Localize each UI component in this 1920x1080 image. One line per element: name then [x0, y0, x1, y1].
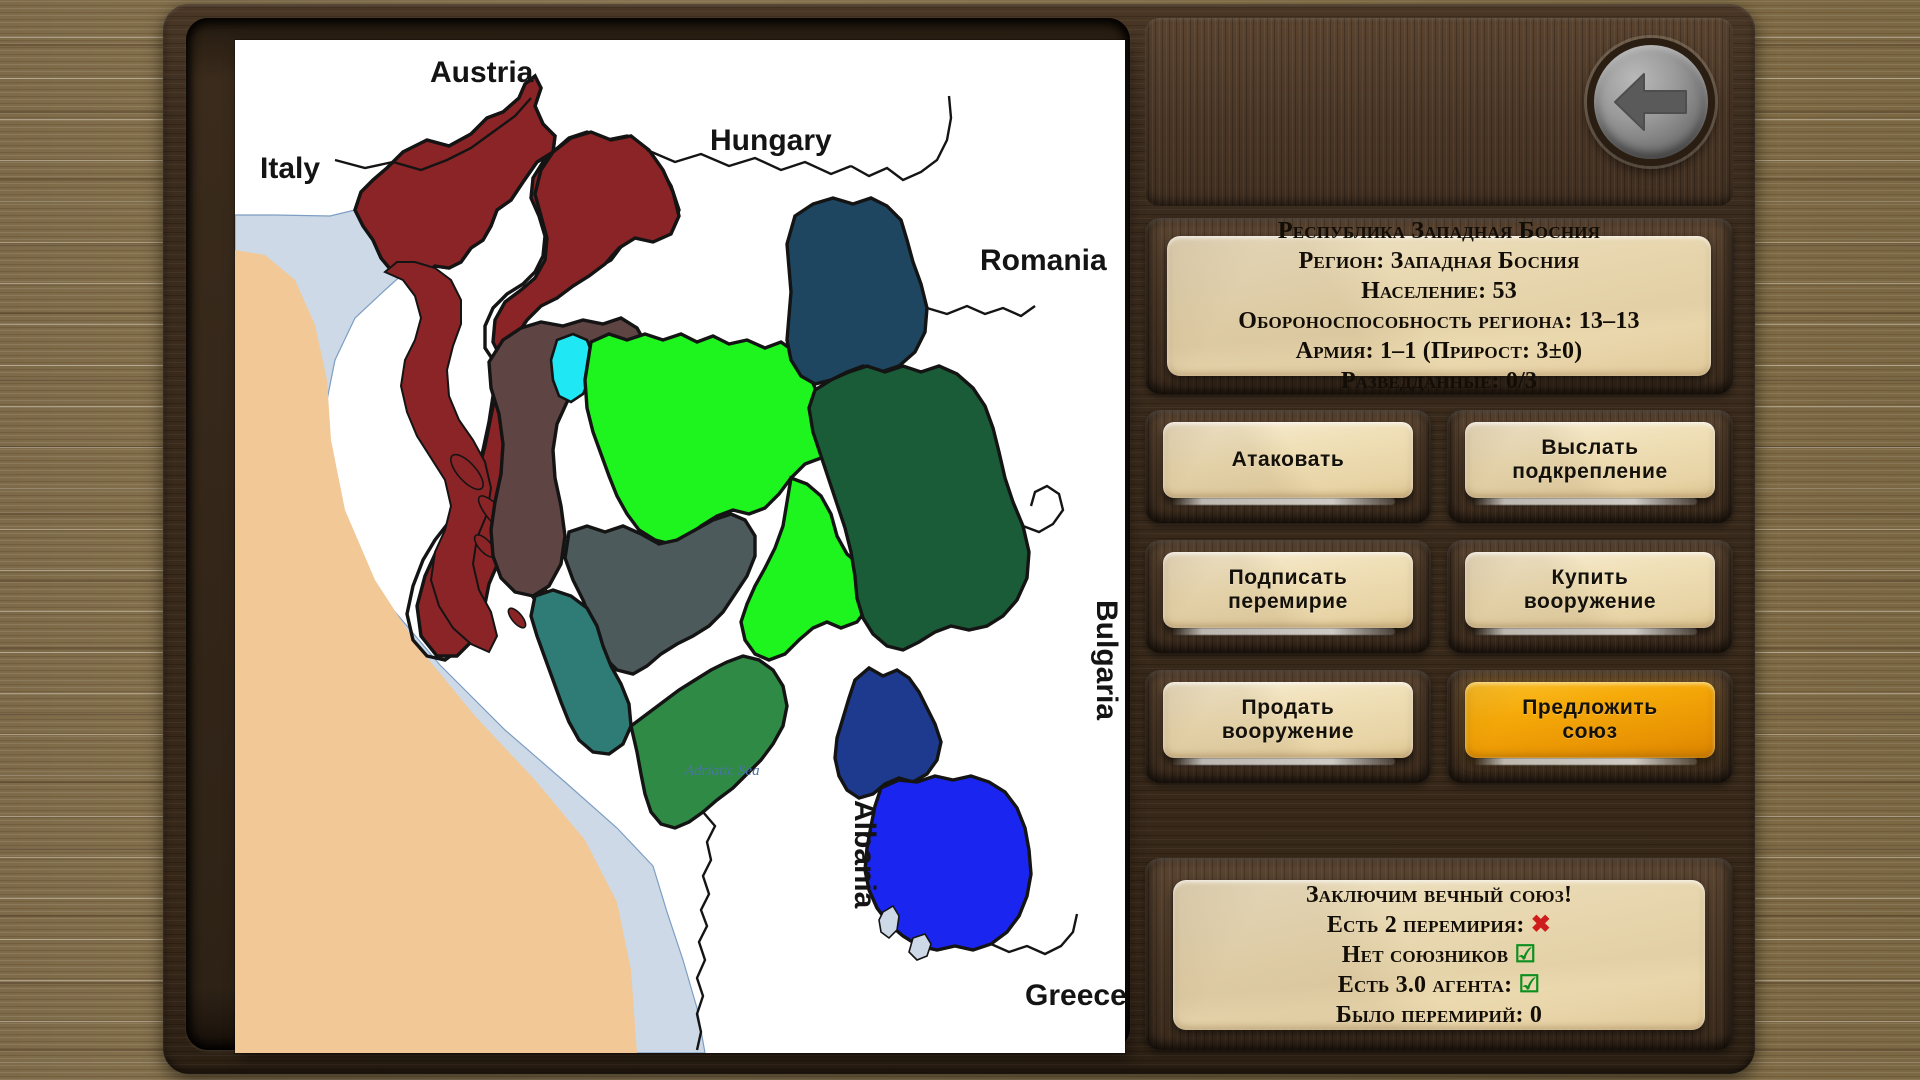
bay-reinforce: Выслатьподкрепление [1447, 410, 1733, 523]
attack-button[interactable]: Атаковать [1163, 422, 1413, 498]
buy-weapons-button[interactable]: Купитьвооружение [1465, 552, 1715, 628]
info-bay: Республика Западная Босния Регион: Запад… [1145, 218, 1733, 394]
status-row-truces: Есть 2 перемирия: ✖ [1327, 910, 1551, 940]
status-row-truces-label: Есть 2 перемирия: [1327, 912, 1525, 938]
label-romania: Romania [980, 244, 1107, 277]
status-row-past-truces: Было перемирий: 0 [1336, 1000, 1542, 1030]
attack-button-label: Атаковать [1232, 448, 1345, 472]
offer-alliance-button[interactable]: Предложитьсоюз [1465, 682, 1715, 758]
arrow-left-icon [1612, 71, 1690, 133]
label-albania: Albania [848, 800, 881, 909]
label-austria: Austria [430, 56, 534, 89]
buy-weapons-button-label: Купитьвооружение [1524, 566, 1656, 614]
status-row-allies: Нет союзников ☑ [1342, 940, 1536, 970]
back-button[interactable] [1587, 38, 1715, 166]
status-row-allies-label: Нет союзников [1342, 942, 1508, 968]
check-icon: ☑ [1514, 942, 1536, 968]
label-adriatic-sea: Adriatic Sea [684, 763, 760, 779]
map-card[interactable]: Austria Italy Hungary Romania Bulgaria A… [235, 40, 1125, 1053]
info-line-army: Армия: 1–1 (Прирост: 3±0) [1296, 336, 1583, 366]
cross-icon: ✖ [1531, 912, 1551, 938]
balkans-map[interactable]: Austria Italy Hungary Romania Bulgaria A… [235, 40, 1125, 1053]
info-line-country: Республика Западная Босния [1278, 216, 1600, 246]
label-italy: Italy [260, 152, 320, 185]
label-hungary: Hungary [710, 124, 832, 157]
send-reinforcement-button[interactable]: Выслатьподкрепление [1465, 422, 1715, 498]
bay-sell-arms: Продатьвооружение [1145, 670, 1431, 783]
bay-offer-alliance: Предложитьсоюз [1447, 670, 1733, 783]
status-row-agents: Есть 3.0 агента: ☑ [1338, 970, 1540, 1000]
status-bay: Заключим вечный союз! Есть 2 перемирия: … [1145, 858, 1733, 1050]
bay-attack: Атаковать [1145, 410, 1431, 523]
bay-buy-arms: Купитьвооружение [1447, 540, 1733, 653]
map-well: Austria Italy Hungary Romania Bulgaria A… [186, 18, 1130, 1050]
check-icon-2: ☑ [1518, 972, 1540, 998]
alliance-status-plaque: Заключим вечный союз! Есть 2 перемирия: … [1173, 880, 1705, 1030]
info-line-region: Регион: Западная Босния [1299, 246, 1580, 276]
right-panel: Республика Западная Босния Регион: Запад… [1145, 18, 1733, 1050]
status-title: Заключим вечный союз! [1306, 880, 1572, 910]
label-bulgaria: Bulgaria [1090, 600, 1123, 720]
bay-sign-truce: Подписатьперемирие [1145, 540, 1431, 653]
offer-alliance-button-label: Предложитьсоюз [1522, 696, 1658, 744]
label-greece: Greece [1025, 979, 1125, 1012]
status-row-agents-label: Есть 3.0 агента: [1338, 972, 1512, 998]
sign-truce-button[interactable]: Подписатьперемирие [1163, 552, 1413, 628]
desktop-background: Austria Italy Hungary Romania Bulgaria A… [0, 0, 1920, 1080]
info-line-defence: Обороноспособность региона: 13–13 [1238, 306, 1639, 336]
sell-weapons-button[interactable]: Продатьвооружение [1163, 682, 1413, 758]
info-line-intel: Разведданные: 0/3 [1341, 366, 1537, 396]
send-reinforcement-button-label: Выслатьподкрепление [1512, 436, 1667, 484]
game-window-frame: Austria Italy Hungary Romania Bulgaria A… [163, 4, 1755, 1074]
sell-weapons-button-label: Продатьвооружение [1222, 696, 1354, 744]
region-info-plaque: Республика Западная Босния Регион: Запад… [1167, 236, 1711, 376]
info-line-population: Население: 53 [1361, 276, 1517, 306]
top-bay [1145, 18, 1733, 206]
sign-truce-button-label: Подписатьперемирие [1228, 566, 1348, 614]
